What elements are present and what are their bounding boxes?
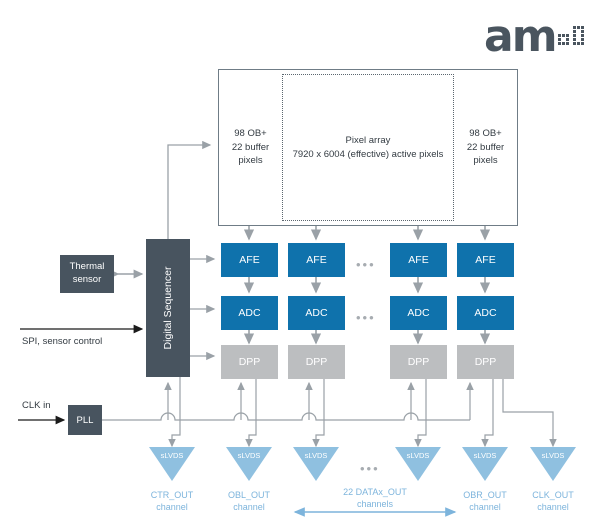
spi-input-label: SPI, sensor control — [22, 336, 102, 347]
active-pixel-array-region: Pixel array 7920 x 6004 (effective) acti… — [282, 74, 454, 221]
pll-clock-bus — [102, 413, 470, 420]
dpp-block-3: DPP — [390, 345, 447, 379]
right-ob-line2: 22 buffer — [467, 141, 504, 155]
afe-block-1: AFE — [221, 243, 278, 277]
obl-out-channel-label: OBL_OUT channel — [204, 489, 294, 513]
slvds-driver-6: sLVDS — [530, 447, 576, 481]
thermal-sensor-line2: sensor — [70, 274, 105, 287]
left-ob-line2: 22 buffer — [232, 141, 269, 155]
pixelarray-to-afe-arrows — [249, 226, 485, 239]
clk-out-unit: channel — [508, 501, 598, 513]
block-diagram: am 98 OB+ 22 buffer pi — [0, 0, 600, 531]
thermal-sensor-line1: Thermal — [70, 261, 105, 274]
clk-out-name: CLK_OUT — [508, 489, 598, 501]
pixel-array-block: 98 OB+ 22 buffer pixels Pixel array 7920… — [218, 69, 518, 226]
output-down-feeds — [172, 377, 553, 446]
adc-block-2: ADC — [288, 296, 345, 330]
dpp-block-4: DPP — [457, 345, 514, 379]
clk-out-channel-label: CLK_OUT channel — [508, 489, 598, 513]
dpp-block-2: DPP — [288, 345, 345, 379]
data-channels-label: 22 DATAx_OUT channels — [330, 486, 420, 510]
afe-block-3: AFE — [390, 243, 447, 277]
slvds-driver-3: sLVDS — [293, 447, 339, 481]
left-ob-line3: pixels — [232, 154, 269, 168]
right-ob-buffer-column: 98 OB+ 22 buffer pixels — [454, 70, 517, 225]
slvds-label-6: sLVDS — [530, 451, 576, 460]
left-ob-line1: 98 OB+ — [232, 127, 269, 141]
halftone-s-mark-icon — [557, 22, 587, 52]
slvds-label-3: sLVDS — [293, 451, 339, 460]
slvds-row-ellipsis: ••• — [360, 462, 380, 475]
slvds-label-5: sLVDS — [462, 451, 508, 460]
slvds-driver-4: sLVDS — [395, 447, 441, 481]
slvds-driver-5: sLVDS — [462, 447, 508, 481]
slvds-driver-1: sLVDS — [149, 447, 195, 481]
ams-logo: am — [484, 16, 588, 58]
obl-out-name: OBL_OUT — [204, 489, 294, 501]
logo-wordmark: am — [484, 15, 556, 59]
afe-to-adc-arrows — [249, 277, 485, 292]
digital-sequencer-label: Digital Sequencer — [162, 267, 174, 350]
adc-block-3: ADC — [390, 296, 447, 330]
pixel-array-resolution: 7920 x 6004 (effective) active pixels — [293, 148, 444, 162]
clk-in-label: CLK in — [22, 400, 51, 411]
data-channels-line2: channels — [330, 498, 420, 510]
slvds-label-1: sLVDS — [149, 451, 195, 460]
sequencer-to-pixelarray-connector — [168, 145, 210, 239]
slvds-label-2: sLVDS — [226, 451, 272, 460]
afe-block-2: AFE — [288, 243, 345, 277]
clock-up-feeds — [168, 383, 470, 420]
adc-block-4: ADC — [457, 296, 514, 330]
sequencer-control-arrows — [190, 259, 214, 356]
pixel-array-title: Pixel array — [293, 134, 444, 148]
obl-out-unit: channel — [204, 501, 294, 513]
slvds-driver-2: sLVDS — [226, 447, 272, 481]
left-ob-buffer-column: 98 OB+ 22 buffer pixels — [219, 70, 282, 225]
afe-block-4: AFE — [457, 243, 514, 277]
right-ob-line3: pixels — [467, 154, 504, 168]
adc-to-dpp-arrows — [249, 330, 485, 343]
digital-sequencer-block: Digital Sequencer — [146, 239, 190, 377]
afe-row-ellipsis: ••• — [356, 258, 376, 271]
right-ob-line1: 98 OB+ — [467, 127, 504, 141]
data-channels-line1: 22 DATAx_OUT — [330, 486, 420, 498]
pll-block: PLL — [68, 405, 102, 435]
thermal-sensor-block: Thermal sensor — [60, 255, 114, 293]
adc-row-ellipsis: ••• — [356, 311, 376, 324]
slvds-label-4: sLVDS — [395, 451, 441, 460]
adc-block-1: ADC — [221, 296, 278, 330]
dpp-block-1: DPP — [221, 345, 278, 379]
